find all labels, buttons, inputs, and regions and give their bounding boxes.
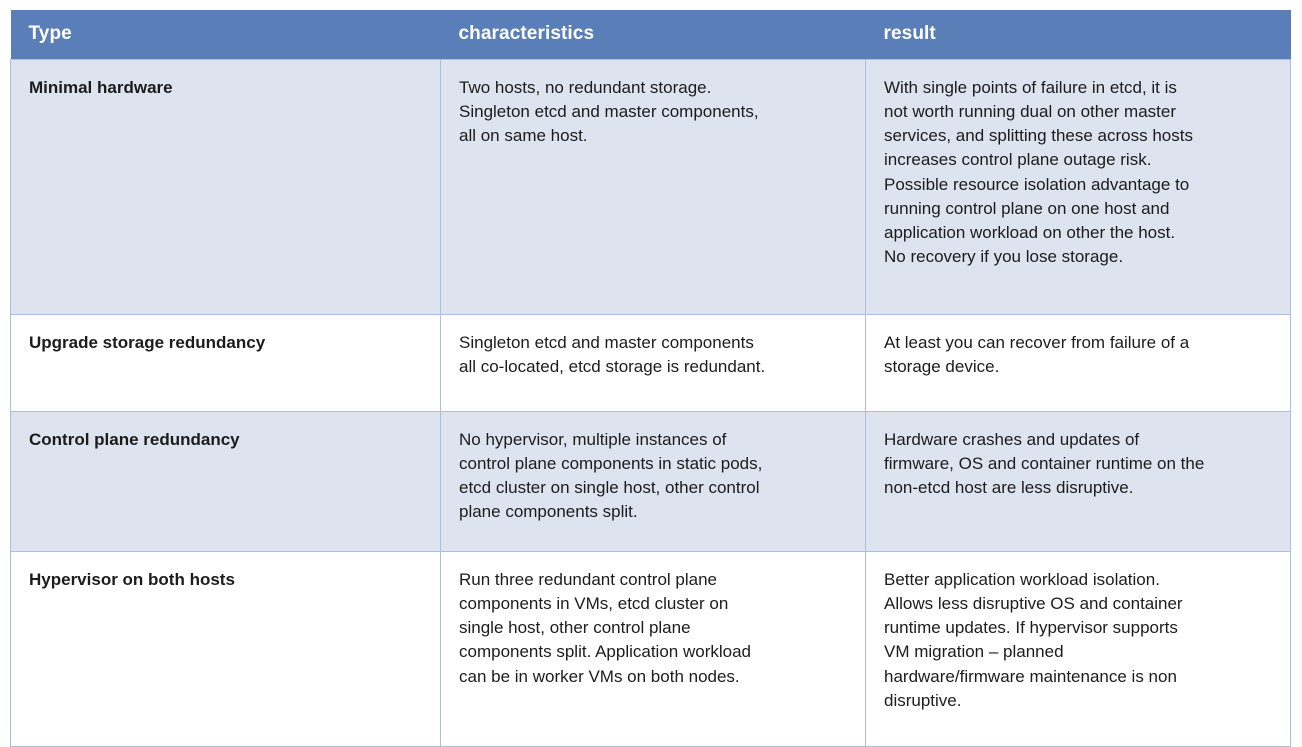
- cell-characteristics: No hypervisor, multiple instances of con…: [441, 412, 866, 552]
- cell-type: Control plane redundancy: [11, 412, 441, 552]
- cell-type: Hypervisor on both hosts: [11, 552, 441, 747]
- cell-result: At least you can recover from failure of…: [866, 315, 1291, 412]
- table-row: Upgrade storage redundancy Singleton etc…: [11, 315, 1291, 412]
- comparison-table-container: Type characteristics result Minimal hard…: [10, 10, 1290, 700]
- table-row: Hypervisor on both hosts Run three redun…: [11, 552, 1291, 747]
- cell-type: Upgrade storage redundancy: [11, 315, 441, 412]
- table-row: Minimal hardware Two hosts, no redundant…: [11, 60, 1291, 315]
- cell-result: With single points of failure in etcd, i…: [866, 60, 1291, 315]
- cell-result: Better application workload isolation. A…: [866, 552, 1291, 747]
- column-header-type: Type: [11, 10, 441, 60]
- table-header: Type characteristics result: [11, 10, 1291, 60]
- cell-characteristics: Singleton etcd and master components all…: [441, 315, 866, 412]
- table-header-row: Type characteristics result: [11, 10, 1291, 60]
- cell-characteristics: Run three redundant control plane compon…: [441, 552, 866, 747]
- cell-characteristics: Two hosts, no redundant storage. Singlet…: [441, 60, 866, 315]
- column-header-result: result: [866, 10, 1291, 60]
- cell-result: Hardware crashes and updates of firmware…: [866, 412, 1291, 552]
- table-body: Minimal hardware Two hosts, no redundant…: [11, 60, 1291, 747]
- column-header-characteristics: characteristics: [441, 10, 866, 60]
- cell-type: Minimal hardware: [11, 60, 441, 315]
- ha-topology-comparison-table: Type characteristics result Minimal hard…: [10, 10, 1291, 747]
- table-row: Control plane redundancy No hypervisor, …: [11, 412, 1291, 552]
